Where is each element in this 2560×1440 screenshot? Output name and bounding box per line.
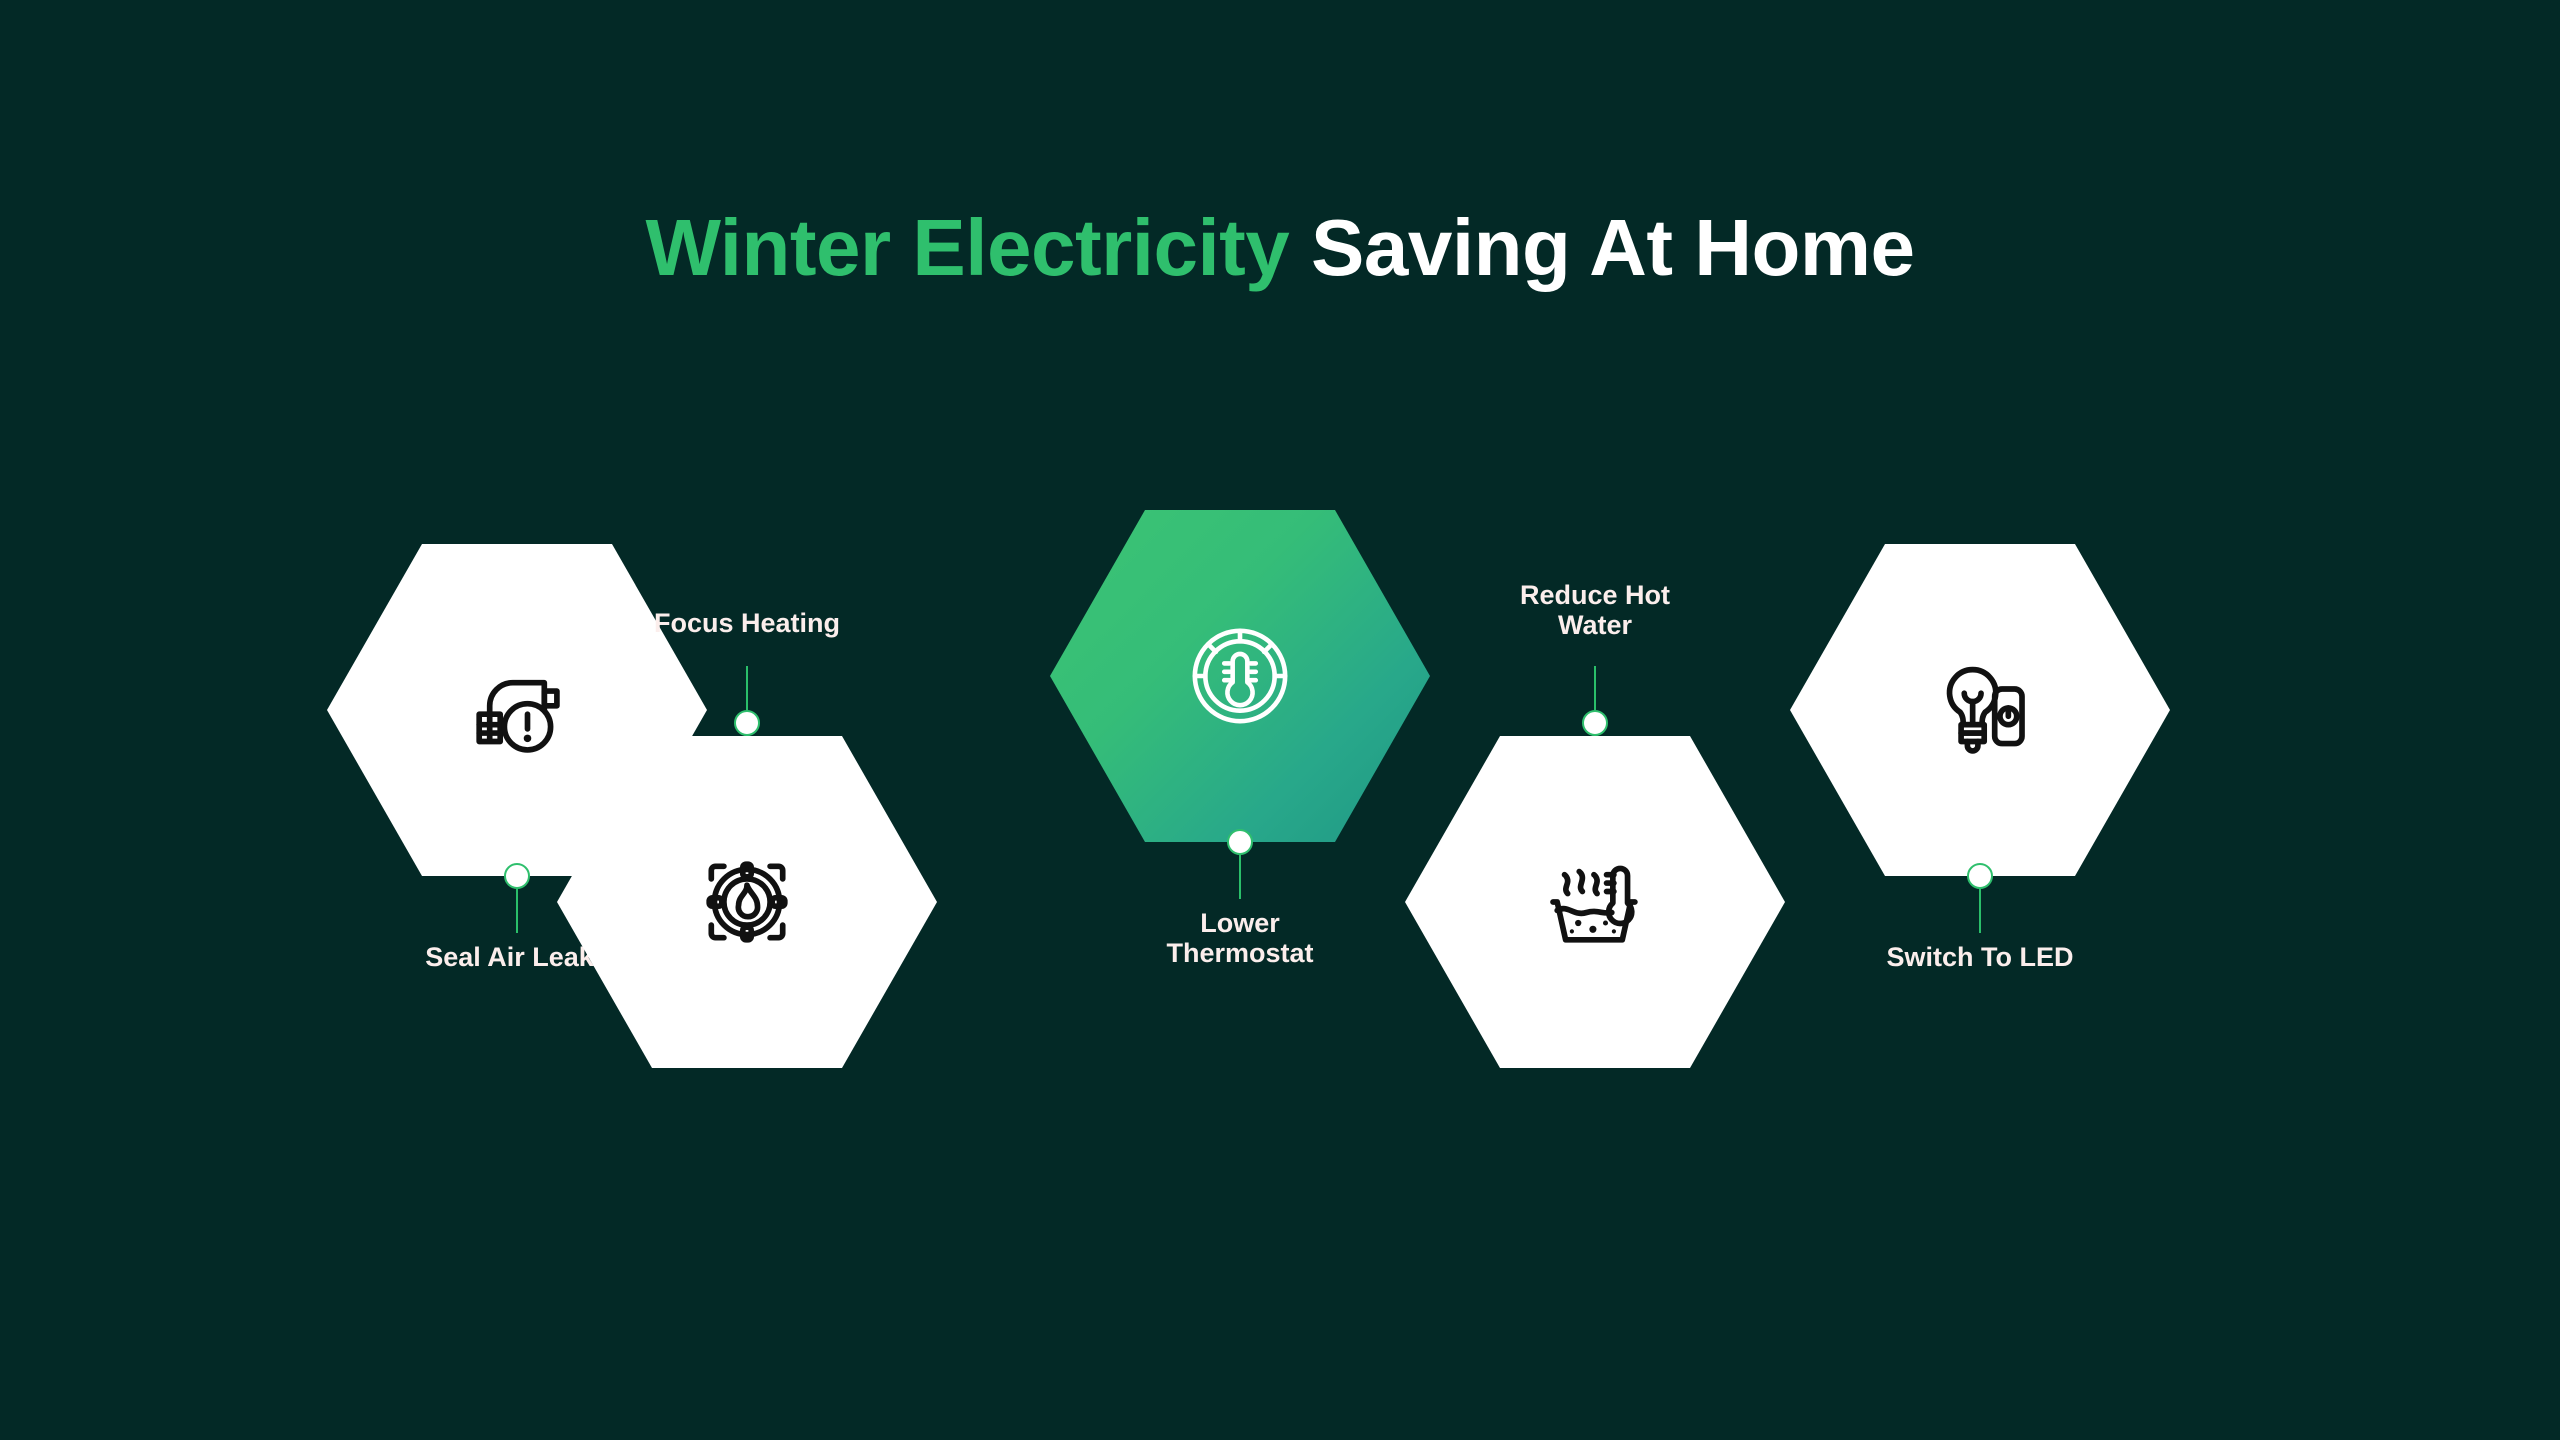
flame-target-icon bbox=[684, 839, 810, 965]
node-lower-thermostat[interactable]: Lower Thermostat bbox=[1050, 510, 1430, 842]
node-label-switch-to-led: Switch To LED bbox=[1810, 942, 2150, 972]
node-focus-heating[interactable]: Focus Heating bbox=[557, 736, 937, 1068]
hexagon-lower-thermostat[interactable] bbox=[1050, 510, 1430, 842]
connector-stem bbox=[1594, 666, 1596, 710]
connector-lower-thermostat bbox=[1220, 829, 1260, 899]
node-label-reduce-hot-water: Reduce Hot Water bbox=[1425, 580, 1765, 640]
connector-stem bbox=[1979, 889, 1981, 933]
connector-dot bbox=[504, 863, 530, 889]
connector-reduce-hot-water bbox=[1575, 666, 1615, 736]
connector-stem bbox=[516, 889, 518, 933]
connector-seal-air-leaks bbox=[497, 863, 537, 933]
hot-water-basin-icon bbox=[1532, 839, 1658, 965]
connector-dot bbox=[1582, 710, 1608, 736]
connector-stem bbox=[746, 666, 748, 710]
connector-focus-heating bbox=[727, 666, 767, 736]
led-bulb-switch-icon bbox=[1917, 647, 2043, 773]
node-switch-to-led[interactable]: Switch To LED bbox=[1790, 544, 2170, 876]
connector-stem bbox=[1239, 855, 1241, 899]
connector-dot bbox=[1227, 829, 1253, 855]
hexagon-reduce-hot-water[interactable] bbox=[1405, 736, 1785, 1068]
infographic-stage: Seal Air Leaks Focus Heating bbox=[0, 0, 2560, 1440]
node-label-focus-heating: Focus Heating bbox=[577, 608, 917, 638]
hexagon-switch-to-led[interactable] bbox=[1790, 544, 2170, 876]
connector-dot bbox=[734, 710, 760, 736]
node-reduce-hot-water[interactable]: Reduce Hot Water bbox=[1405, 736, 1785, 1068]
thermostat-dial-icon bbox=[1177, 613, 1303, 739]
connector-dot bbox=[1967, 863, 1993, 889]
hexagon-focus-heating[interactable] bbox=[557, 736, 937, 1068]
connector-switch-to-led bbox=[1960, 863, 2000, 933]
node-label-lower-thermostat: Lower Thermostat bbox=[1070, 908, 1410, 968]
